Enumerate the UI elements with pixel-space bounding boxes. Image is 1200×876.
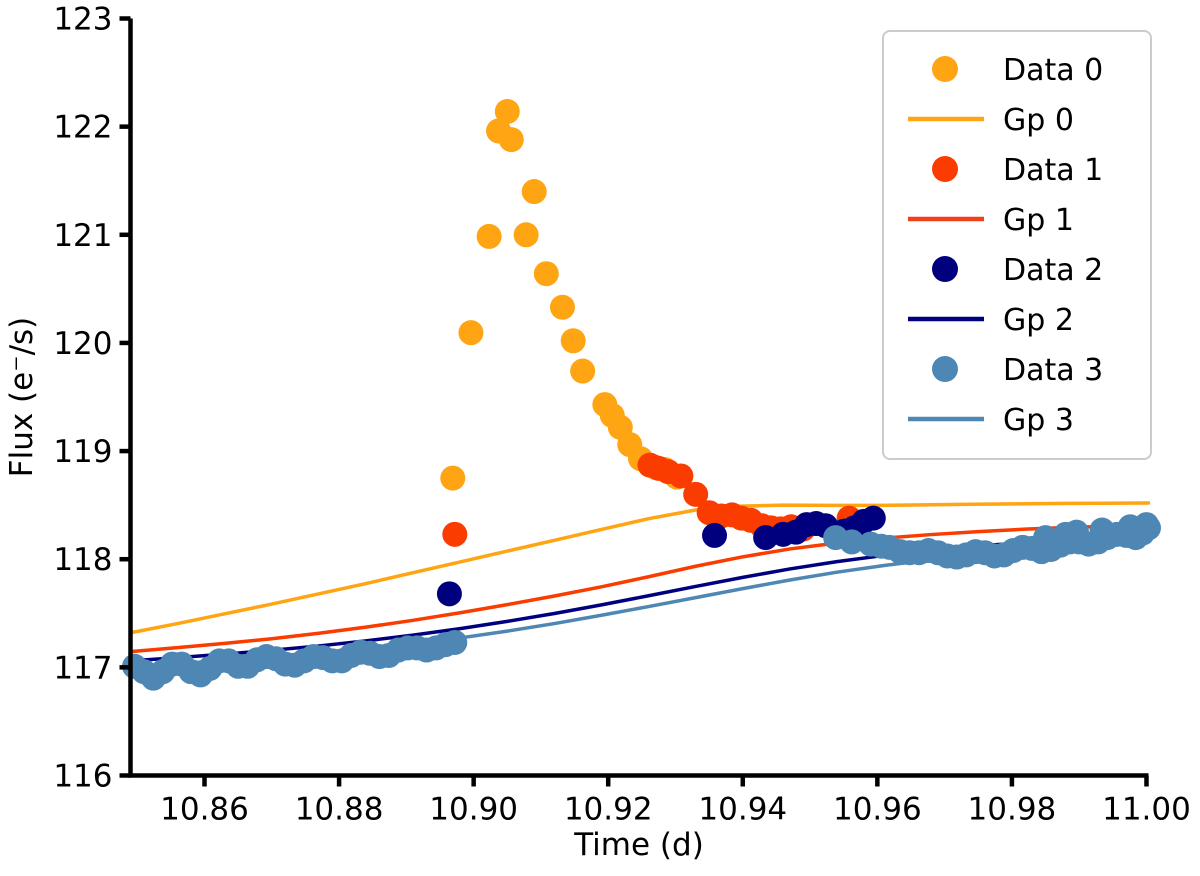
scatter-plot-canvas: 10.8610.8810.9010.9210.9410.9610.9811.00… [0,0,1200,876]
legend-label: Gp 2 [1003,303,1074,338]
x-tick-label: 11.00 [1102,792,1191,828]
legend-marker-dot [932,56,958,82]
svg-text:Flux (e⁻/s): Flux (e⁻/s) [4,317,40,478]
data-point [522,179,547,204]
legend-label: Gp 1 [1003,203,1074,238]
legend-label: Data 3 [1003,353,1103,388]
data-point [1053,522,1078,547]
legend-label: Data 1 [1003,153,1103,188]
x-tick-label: 10.98 [968,792,1057,828]
legend-label: Gp 0 [1003,103,1074,138]
y-tick-label: 122 [53,110,112,146]
data-point [499,127,524,152]
data-point [858,532,883,557]
data-point [514,222,539,247]
y-tick-label: 119 [53,434,112,470]
data-point [440,466,465,491]
y-tick-label: 118 [53,542,112,578]
data-point [534,261,559,286]
data-point [442,630,467,655]
legend-box [883,31,1151,459]
data-point [1090,518,1115,543]
x-tick-label: 10.94 [698,792,787,828]
x-axis-label: Time (d) [573,827,704,863]
y-tick-label: 117 [53,650,112,686]
data-point [437,581,462,606]
legend-label: Data 0 [1003,53,1103,88]
x-tick-label: 10.96 [833,792,922,828]
chart-figure: 10.8610.8810.9010.9210.9410.9610.9811.00… [0,0,1200,876]
y-tick-label: 120 [53,326,112,362]
legend-marker-dot [932,256,958,282]
x-tick-label: 10.86 [160,792,249,828]
data-point [861,506,886,531]
legend: Data 0Gp 0Data 1Gp 1Data 2Gp 2Data 3Gp 3 [883,31,1151,459]
data-point [561,328,586,353]
legend-label: Data 2 [1003,253,1103,288]
data-point [442,522,467,547]
x-tick-label: 10.88 [295,792,384,828]
data-point [702,523,727,548]
legend-marker-dot [932,356,958,382]
data-point [458,320,483,345]
legend-marker-dot [932,156,958,182]
y-tick-label: 116 [53,759,112,795]
data-point [495,99,520,124]
x-tick-label: 10.90 [429,792,518,828]
y-tick-label: 123 [53,2,112,38]
data-point [477,224,502,249]
y-axis-label: Flux (e⁻/s) [4,317,40,478]
data-point [550,295,575,320]
y-tick-label: 121 [53,218,112,254]
legend-label: Gp 3 [1003,403,1074,438]
data-point [570,359,595,384]
x-tick-label: 10.92 [564,792,653,828]
